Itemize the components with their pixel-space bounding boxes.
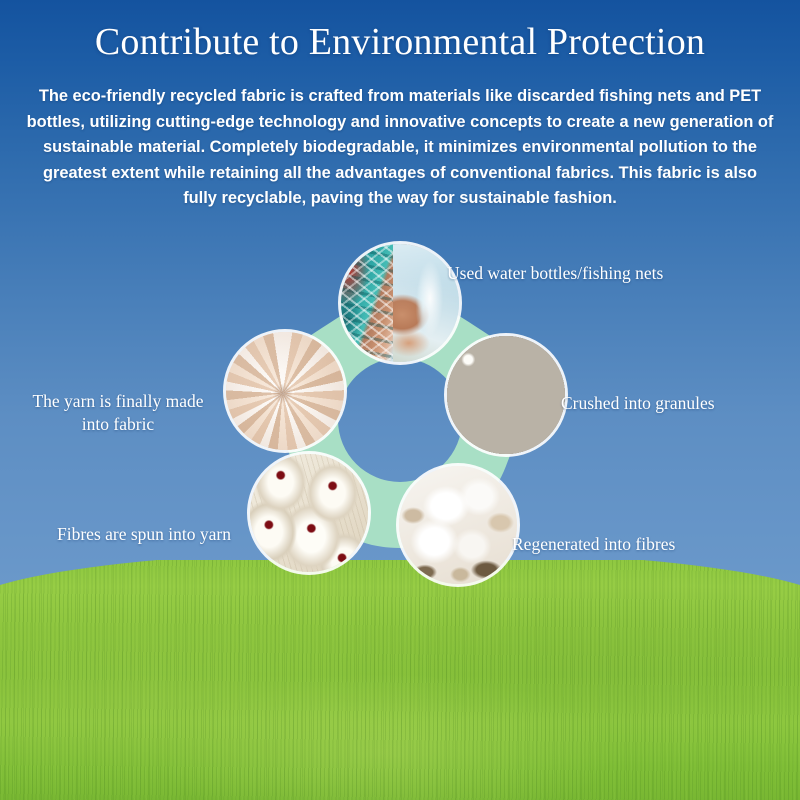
intro-paragraph: The eco-friendly recycled fabric is craf… [24,84,776,212]
cycle-node-used-bottles-fishing-nets[interactable] [341,244,459,362]
infographic-poster: Contribute to Environmental Protection T… [0,0,800,800]
regenerated-fibres-image [399,466,517,584]
fabric-swirl-image [226,332,344,450]
yarn-cones-image [250,454,368,572]
cycle-node-crushed-into-granules[interactable] [447,336,565,454]
cycle-node-fibres-spun-into-yarn[interactable] [250,454,368,572]
crushed-granules-image [447,336,565,454]
cycle-label-yarn-made-into-fabric: The yarn is finally made into fabric [22,390,214,436]
cycle-label-used-bottles-fishing-nets: Used water bottles/fishing nets [447,262,663,285]
cycle-label-regenerated-into-fibres: Regenerated into fibres [512,533,675,556]
cycle-label-crushed-into-granules: Crushed into granules [561,392,715,415]
page-title: Contribute to Environmental Protection [0,18,800,66]
used-bottles-fishing-nets-image [341,244,459,362]
cycle-node-regenerated-into-fibres[interactable] [399,466,517,584]
cycle-node-yarn-made-into-fabric[interactable] [226,332,344,450]
cycle-label-fibres-spun-into-yarn: Fibres are spun into yarn [57,523,231,546]
